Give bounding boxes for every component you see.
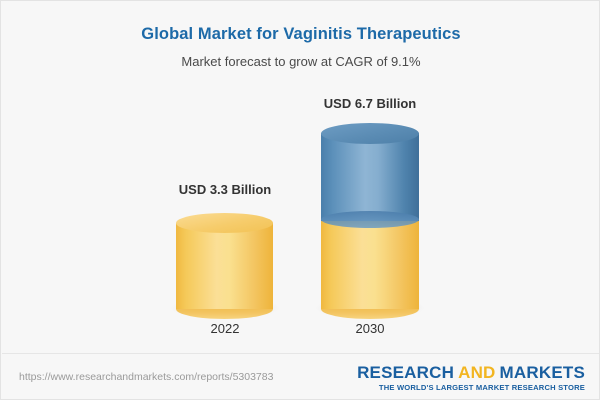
bar-2030-value-label: USD 6.7 Billion xyxy=(270,96,470,111)
bar-2022-value-label: USD 3.3 Billion xyxy=(125,182,325,197)
logo-tagline: THE WORLD'S LARGEST MARKET RESEARCH STOR… xyxy=(357,384,585,392)
report-url[interactable]: https://www.researchandmarkets.com/repor… xyxy=(19,371,273,383)
chart-canvas: Global Market for Vaginitis Therapeutics… xyxy=(0,0,600,400)
bar-2030-segment-base xyxy=(321,219,419,309)
bar-2030[interactable] xyxy=(321,123,419,319)
bar-2022-top-cap xyxy=(176,213,273,233)
bar-2030-category-label: 2030 xyxy=(270,321,470,336)
logo-wordmark: RESEARCHANDMARKETS xyxy=(357,364,585,381)
plot-area: USD 3.3 Billion 2022 USD 6.7 Billion 203… xyxy=(1,1,600,353)
bar-2030-segment-seam xyxy=(321,211,419,228)
footer: https://www.researchandmarkets.com/repor… xyxy=(1,354,600,400)
bar-2022[interactable] xyxy=(176,213,273,319)
logo-word-markets: MARKETS xyxy=(500,363,585,382)
logo-word-and: AND xyxy=(458,363,495,382)
bar-2022-segment-base xyxy=(176,223,273,309)
bar-2030-segment-growth xyxy=(321,133,419,221)
bar-2030-top-cap xyxy=(321,123,419,144)
research-and-markets-logo[interactable]: RESEARCHANDMARKETS THE WORLD'S LARGEST M… xyxy=(357,364,585,392)
logo-word-research: RESEARCH xyxy=(357,363,454,382)
